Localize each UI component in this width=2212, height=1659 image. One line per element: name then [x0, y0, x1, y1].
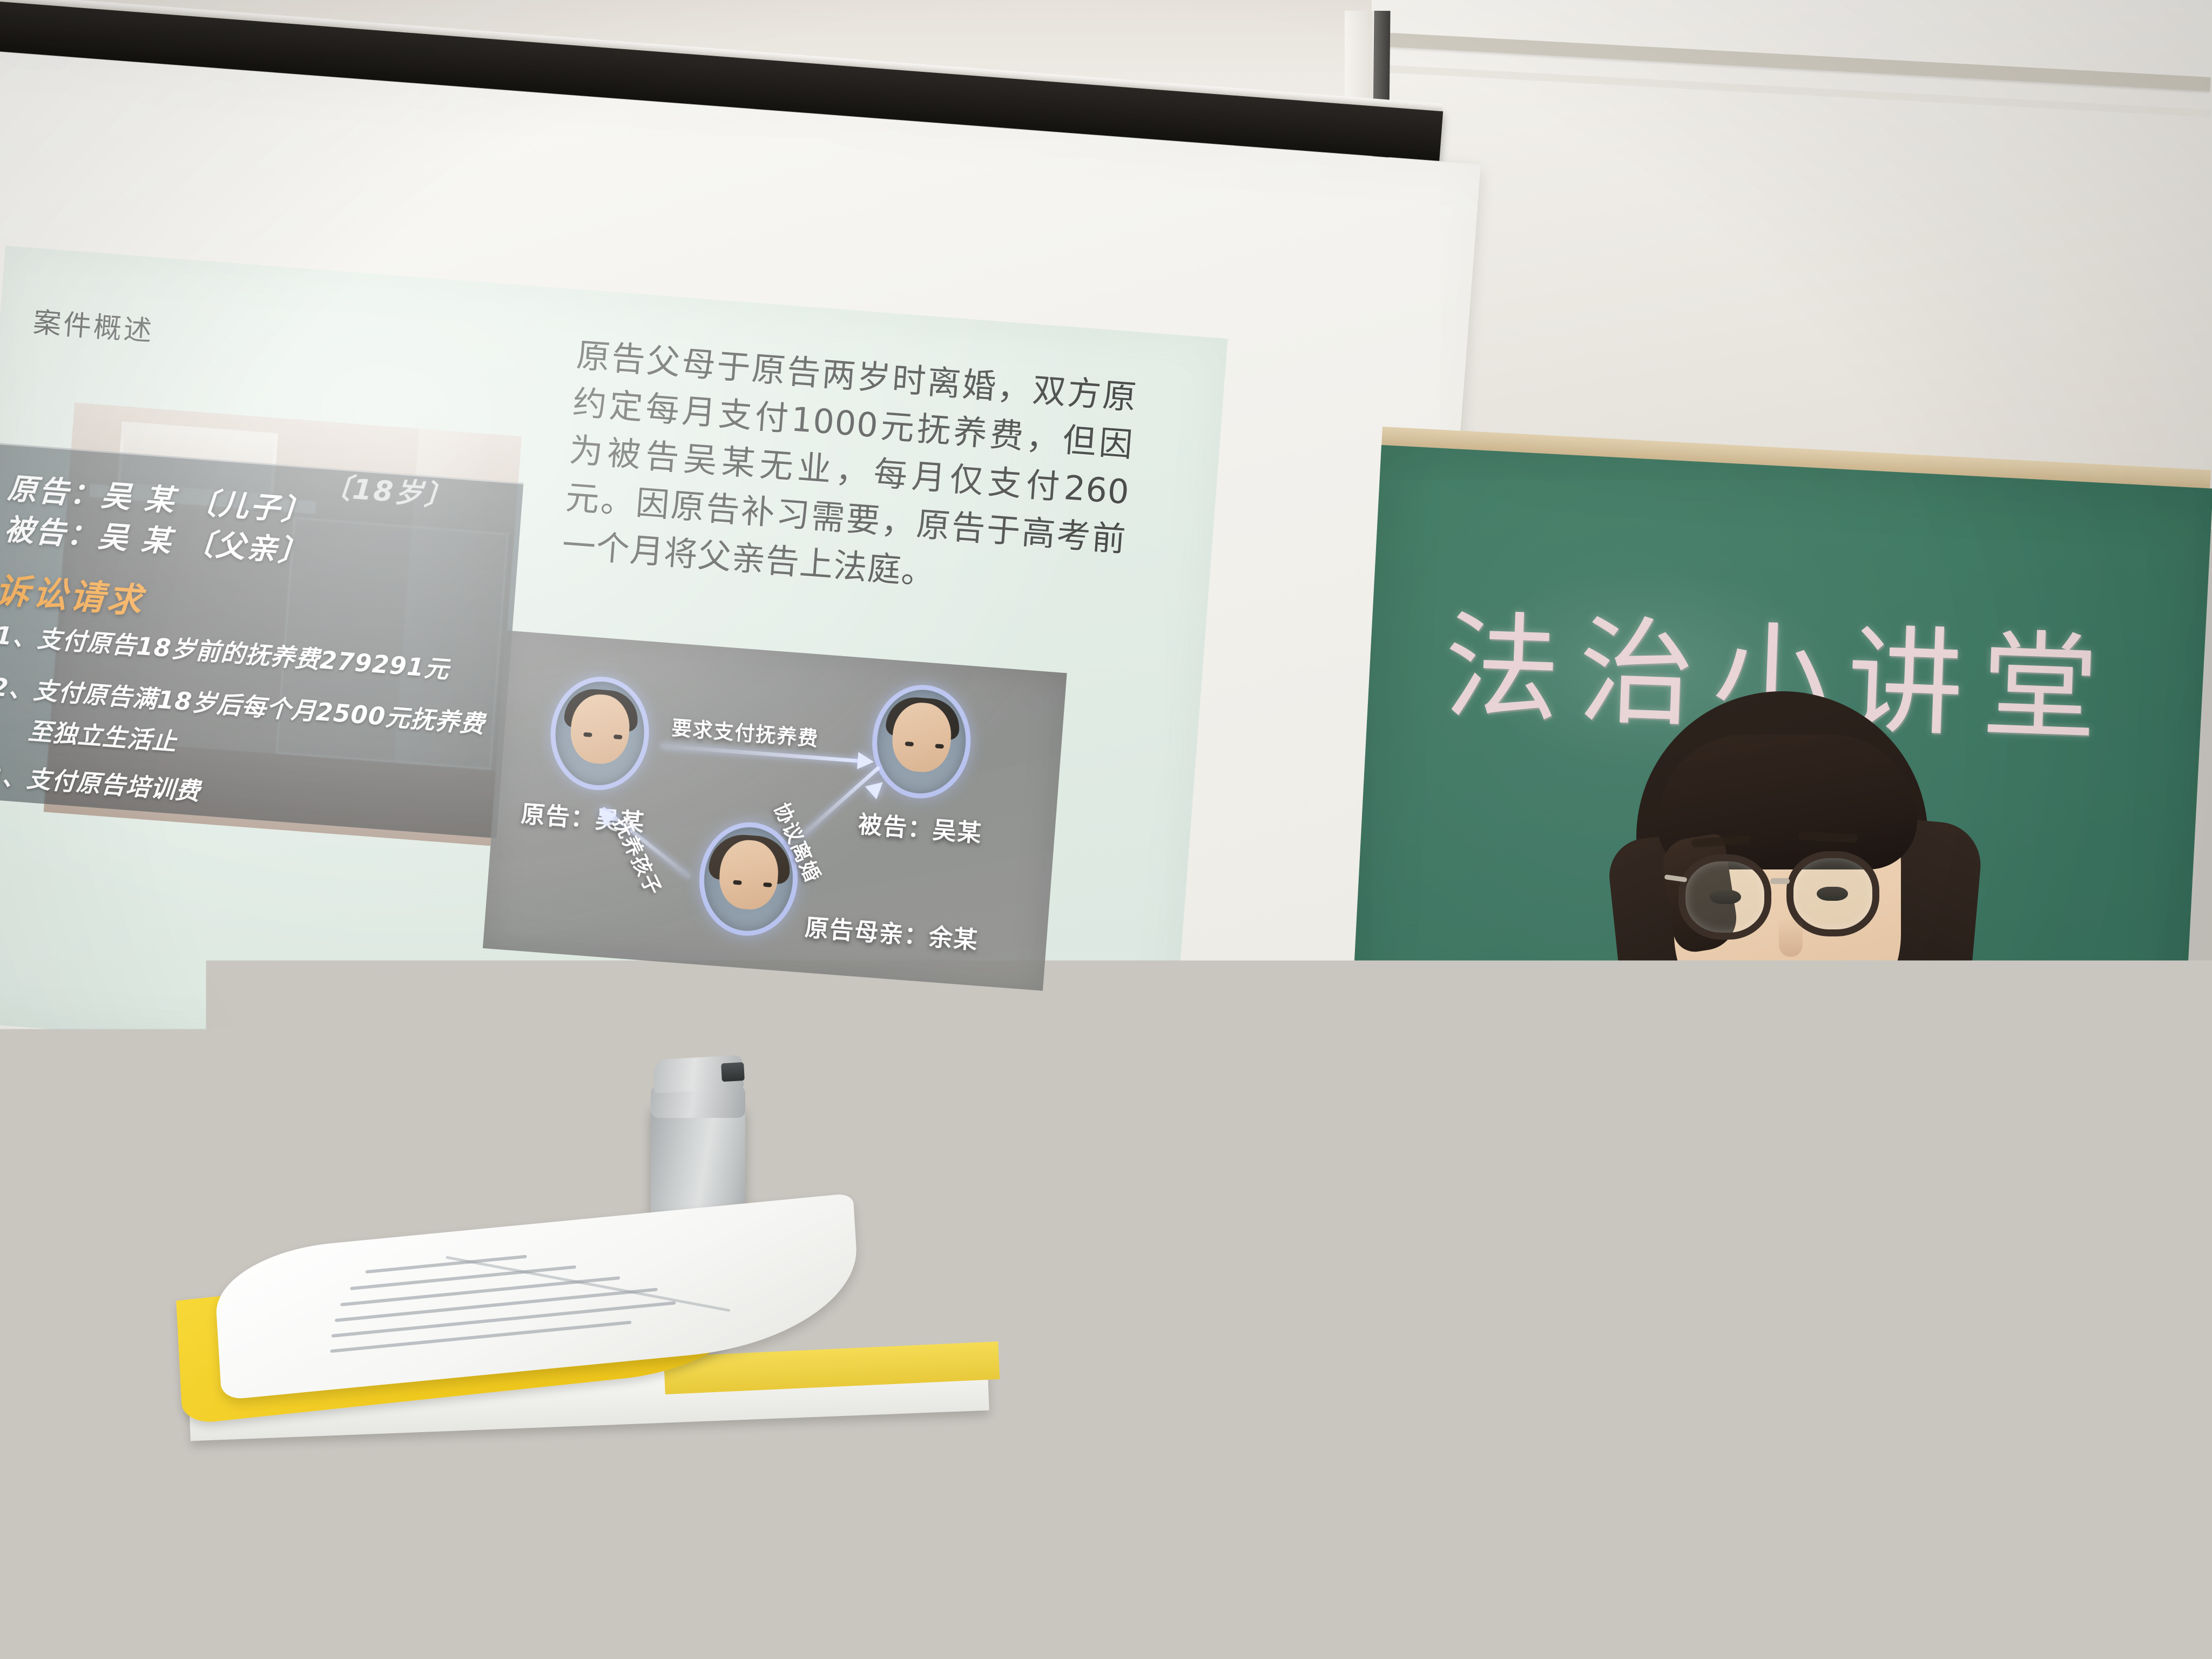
handbag-ring-right [239, 1523, 259, 1535]
handbag[interactable] [122, 1496, 300, 1659]
presenter-nose [1779, 918, 1803, 957]
id-card-photo [1564, 1263, 1615, 1311]
classroom-scene: 案件概述 原告父母于原告两岁时离婚，双方原约定每月支付1000元抚养费，但因为被… [0, 0, 2212, 1659]
pocket-tab-4 [59, 1339, 129, 1365]
diagram-node-plaintiff [547, 673, 653, 793]
defendant-eye-right [935, 744, 944, 748]
pocket-row-bottom: 35 36 [0, 1336, 136, 1422]
diagram-label-defendant: 被告：吴某 [857, 805, 983, 848]
claims-heading: 诉讼请求 [0, 563, 146, 624]
thermos-lock-button[interactable] [721, 1062, 745, 1082]
glasses-bridge [1770, 878, 1790, 884]
pocket-tab-1 [0, 1235, 57, 1260]
plaintiff-eye-left [583, 732, 592, 737]
edge-label-demand: 要求支付抚养费 [671, 711, 820, 752]
paper-text-line-6 [330, 1320, 631, 1353]
paper-text-line-4 [335, 1288, 658, 1323]
relationship-diagram: 原告：吴某 被告：吴某 原告母亲：余某 [483, 630, 1067, 990]
id-card[interactable] [1495, 1242, 1669, 1318]
pocket-30[interactable]: 30 [60, 1257, 131, 1335]
id-card-text-line-4 [1505, 1293, 1532, 1297]
slide-title: 案件概述 [32, 299, 156, 349]
mother-eye-left [733, 880, 742, 885]
plaintiff-eye-right [613, 734, 623, 739]
id-card-text-line-2 [1504, 1269, 1535, 1274]
defendant-eye-left [905, 741, 914, 746]
pocket-35[interactable]: 35 [0, 1362, 52, 1440]
pocket-tab-2 [62, 1235, 132, 1260]
id-card-photo-head [1578, 1282, 1602, 1309]
case-info-box: 原告：吴 某 〔儿子〕 被告：吴 某 〔父亲〕 〔18岁〕 诉讼请求 1、支付原… [0, 442, 523, 838]
claim-item-2-continued: 至独立生活止 [27, 711, 178, 758]
handbag-ring-left [162, 1525, 183, 1537]
projected-slide: 案件概述 原告父母于原告两岁时离婚，双方原约定每月支付1000元抚养费，但因为被… [0, 246, 1228, 1114]
paper-text-line-5 [332, 1301, 676, 1337]
pocket-top-shadow-1 [0, 1208, 57, 1235]
plaintiff-avatar [547, 673, 653, 793]
pocket-36[interactable]: 36 [57, 1362, 128, 1440]
presenter-teeth [1771, 981, 1827, 993]
phone-pocket-organizer: 29 30 35 36 [0, 1229, 139, 1477]
diagram-label-mother: 原告母亲：余某 [804, 908, 980, 955]
pocket-row-top: 29 30 [0, 1229, 139, 1315]
pocket-tab-3 [0, 1339, 53, 1365]
pocket-29[interactable]: 29 [0, 1257, 56, 1335]
glasses-lens-left [1678, 854, 1771, 940]
claim-item-3: 3、支付原告培训费 [0, 756, 201, 807]
mother-eye-right [763, 882, 772, 887]
edge-head-demand [857, 752, 874, 770]
slide-paragraph: 原告父母于原告两岁时离婚，双方原约定每月支付1000元抚养费，但因为被告吴某无业… [561, 332, 1138, 611]
pocket-top-shadow-2 [63, 1208, 133, 1235]
